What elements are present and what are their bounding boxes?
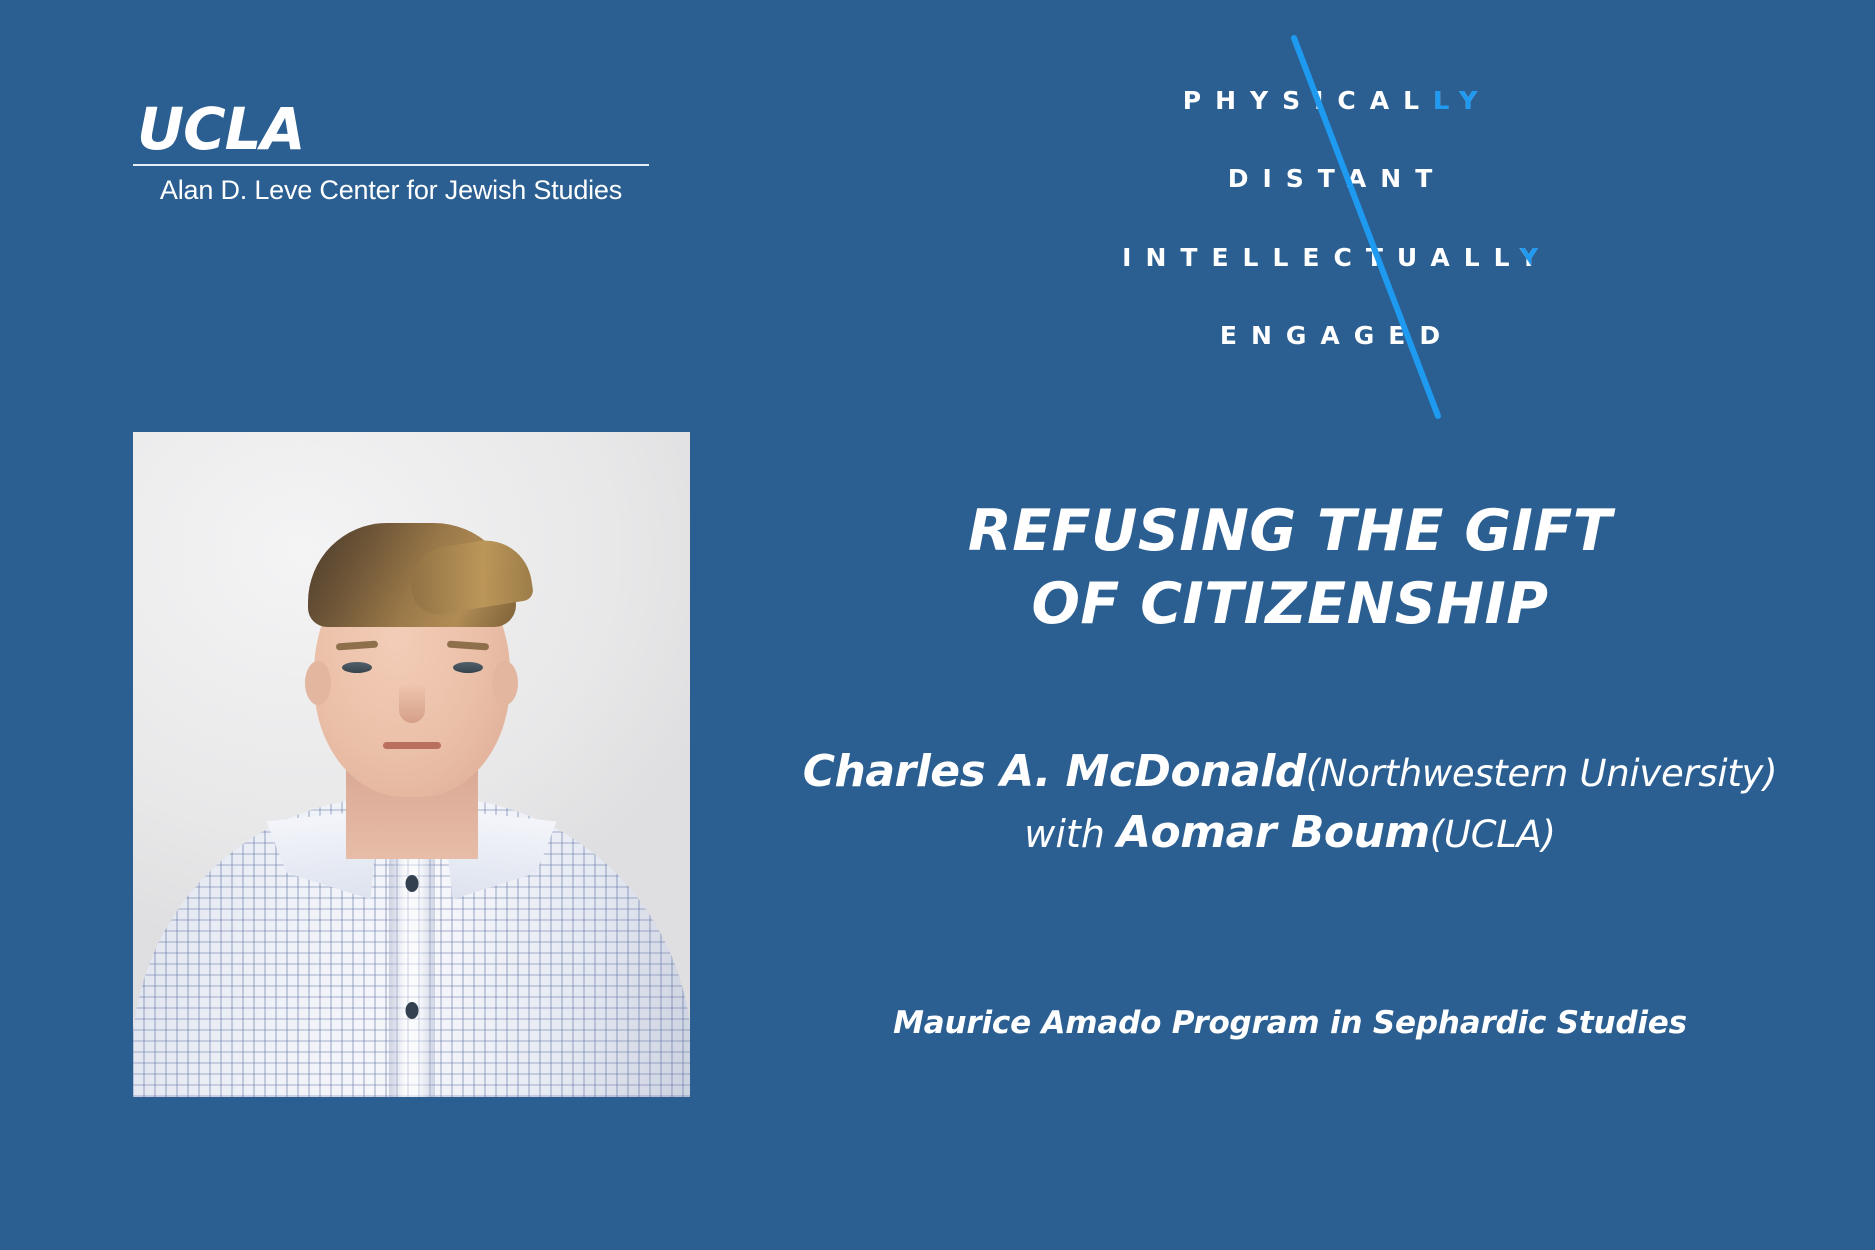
speaker-name-1: Charles A. McDonald [803, 746, 1306, 797]
photo-mouth [383, 742, 441, 749]
photo-ear-left [305, 661, 331, 705]
event-flyer-slide: UCLA Alan D. Leve Center for Jewish Stud… [0, 0, 1875, 1250]
photo-nose [399, 683, 425, 723]
event-title-line-2: OF CITIZENSHIP [940, 568, 1640, 641]
speaker-entry-1: Charles A. McDonald(Northwestern Univers… [760, 742, 1820, 803]
event-title-line-1: REFUSING THE GIFT [940, 495, 1640, 568]
speaker-name-2: Aomar Boum [1117, 807, 1430, 858]
ucla-wordmark: UCLA [133, 100, 653, 158]
series-logo: PHYSICALLY DISTANT INTELLECTUALLY ENGAGE… [1040, 88, 1620, 348]
photo-eye-right [453, 662, 483, 673]
diagonal-slash-icon [1040, 88, 1620, 488]
ucla-center-name: Alan D. Leve Center for Jewish Studies [133, 175, 649, 206]
photo-shirt-button [405, 875, 418, 892]
speaker-affiliation-1: (Northwestern University) [1306, 752, 1778, 795]
speaker-list: Charles A. McDonald(Northwestern Univers… [760, 742, 1820, 863]
speaker-headshot-photo [133, 432, 690, 1097]
event-title: REFUSING THE GIFT OF CITIZENSHIP [940, 495, 1640, 641]
photo-eye-left [342, 662, 372, 673]
ucla-divider-rule [133, 164, 649, 166]
program-name: Maurice Amado Program in Sephardic Studi… [760, 1005, 1820, 1041]
speaker-prefix-2: with [1024, 812, 1117, 856]
speaker-entry-2: with Aomar Boum(UCLA) [760, 803, 1820, 864]
photo-ear-right [492, 661, 518, 705]
ucla-logo-lockup: UCLA Alan D. Leve Center for Jewish Stud… [133, 100, 653, 206]
photo-shirt-button [405, 1002, 418, 1019]
speaker-affiliation-2: (UCLA) [1430, 813, 1556, 856]
